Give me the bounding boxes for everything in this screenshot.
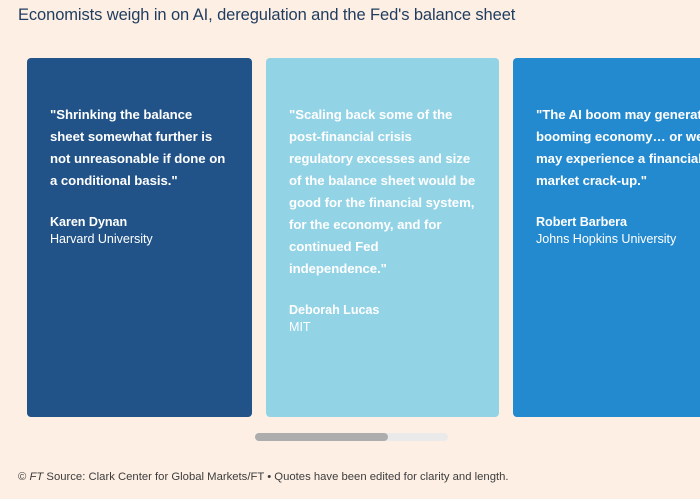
footer-note: © FT Source: Clark Center for Global Mar… xyxy=(18,469,509,485)
quote-card[interactable]: "Scaling back some of the post-financial… xyxy=(266,58,499,417)
quote-carousel[interactable]: "Shrinking the balance sheet somewhat fu… xyxy=(0,58,700,418)
attribution-name: Karen Dynan xyxy=(50,214,229,231)
ft-logo-mark: FT xyxy=(29,471,43,483)
quote-attribution: Robert Barbera Johns Hopkins University xyxy=(536,214,700,248)
carousel-scrollbar-thumb[interactable] xyxy=(255,433,388,441)
attribution-organisation: Johns Hopkins University xyxy=(536,231,700,248)
carousel-scrollbar-track[interactable] xyxy=(255,433,448,441)
attribution-name: Robert Barbera xyxy=(536,214,700,231)
quote-text: "The AI boom may generate a booming econ… xyxy=(536,104,700,192)
footer-source-text: Source: Clark Center for Global Markets/… xyxy=(46,471,508,483)
quote-text: "Scaling back some of the post-financial… xyxy=(289,104,476,280)
quote-card[interactable]: "The AI boom may generate a booming econ… xyxy=(513,58,700,417)
quote-attribution: Deborah Lucas MIT xyxy=(289,302,476,336)
page-title: Economists weigh in on AI, deregulation … xyxy=(18,4,515,26)
quote-attribution: Karen Dynan Harvard University xyxy=(50,214,229,248)
copyright-symbol: © xyxy=(18,471,26,483)
quote-card[interactable]: "Shrinking the balance sheet somewhat fu… xyxy=(27,58,252,417)
attribution-organisation: MIT xyxy=(289,319,476,336)
carousel-track[interactable]: "Shrinking the balance sheet somewhat fu… xyxy=(27,58,700,417)
attribution-name: Deborah Lucas xyxy=(289,302,476,319)
quote-text: "Shrinking the balance sheet somewhat fu… xyxy=(50,104,229,192)
attribution-organisation: Harvard University xyxy=(50,231,229,248)
